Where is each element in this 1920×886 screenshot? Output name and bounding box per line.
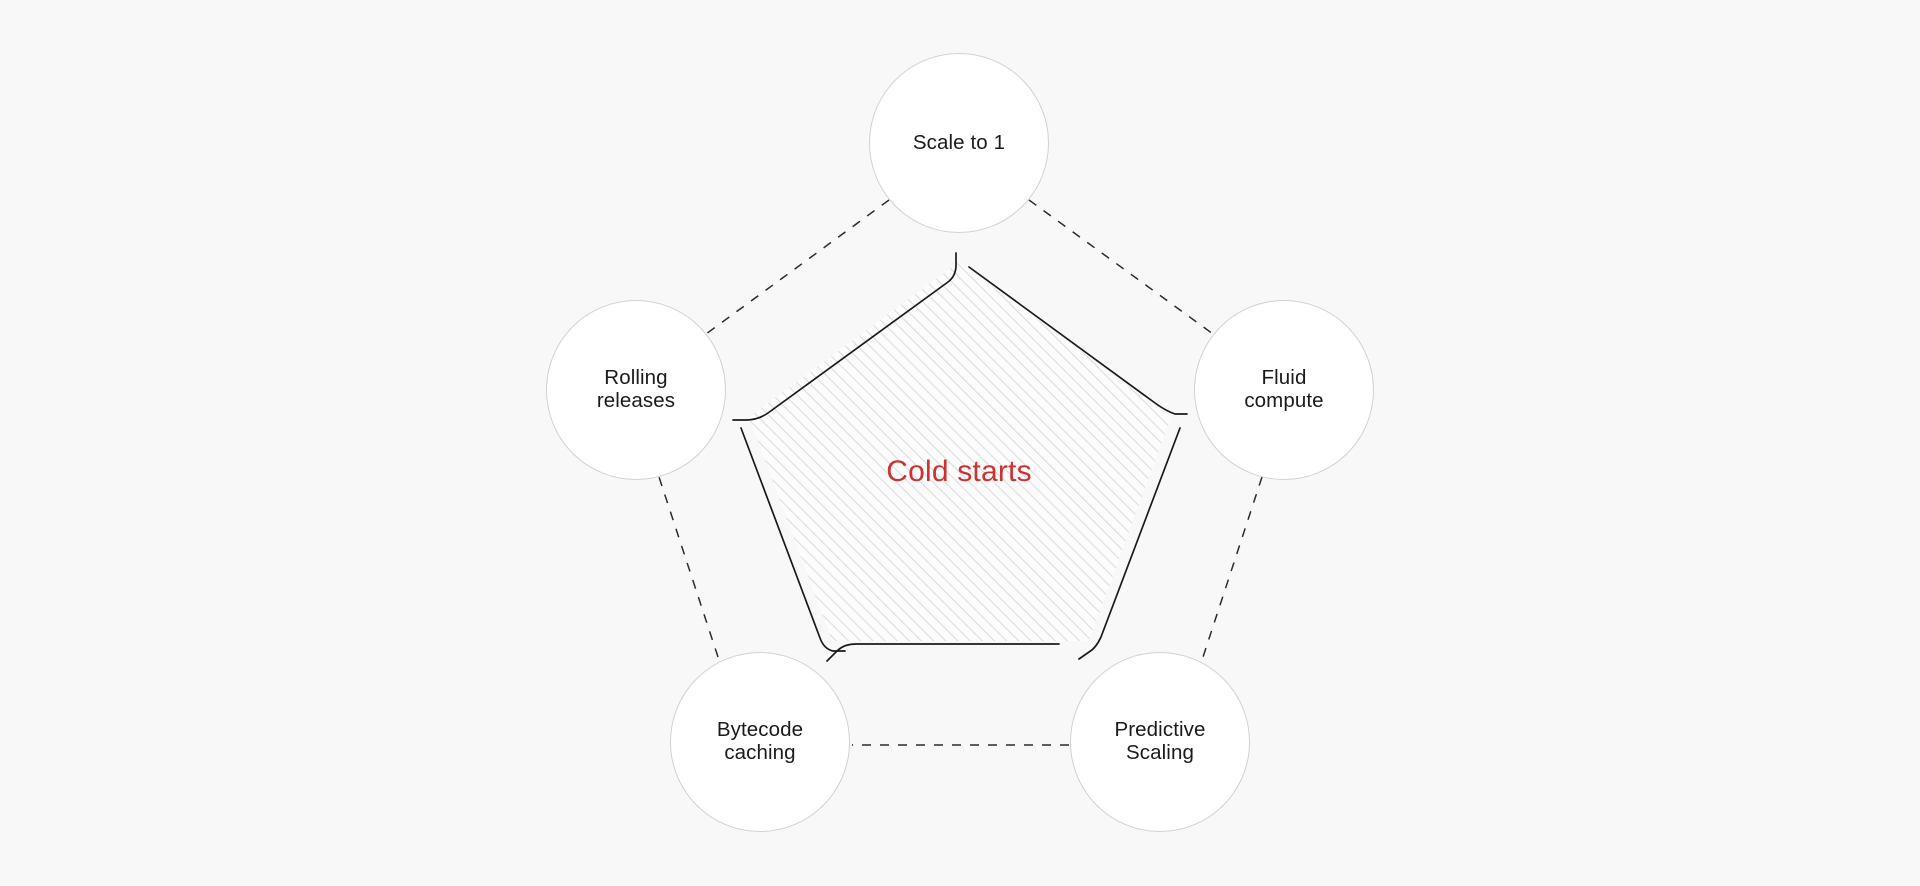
node-bytecode-caching[interactable]: Bytecode caching <box>670 652 850 832</box>
node-label-predictive-scaling: Predictive Scaling <box>1104 719 1215 764</box>
node-scale-to-1[interactable]: Scale to 1 <box>869 53 1049 233</box>
pentagon-hatch-fill <box>749 262 1171 641</box>
node-fluid-compute[interactable]: Fluid compute <box>1194 300 1374 480</box>
connector-scale-to-1--rolling-releases[interactable] <box>706 200 889 334</box>
node-label-bytecode-caching: Bytecode caching <box>707 719 813 764</box>
node-label-rolling-releases: Rolling releases <box>587 367 685 412</box>
connector-fluid-compute--predictive-scaling[interactable] <box>1203 477 1262 657</box>
connector-scale-to-1--fluid-compute[interactable] <box>1029 200 1213 334</box>
center-label: Cold starts <box>886 455 1032 489</box>
pentagon-edge-bottom <box>827 644 1059 661</box>
node-rolling-releases[interactable]: Rolling releases <box>546 300 726 480</box>
connector-bytecode-caching--rolling-releases[interactable] <box>659 477 718 657</box>
node-label-scale-to-1: Scale to 1 <box>903 132 1015 155</box>
node-predictive-scaling[interactable]: Predictive Scaling <box>1070 652 1250 832</box>
node-label-fluid-compute: Fluid compute <box>1234 367 1333 412</box>
diagram-canvas: Cold starts Scale to 1 Fluid compute Pre… <box>0 0 1920 886</box>
